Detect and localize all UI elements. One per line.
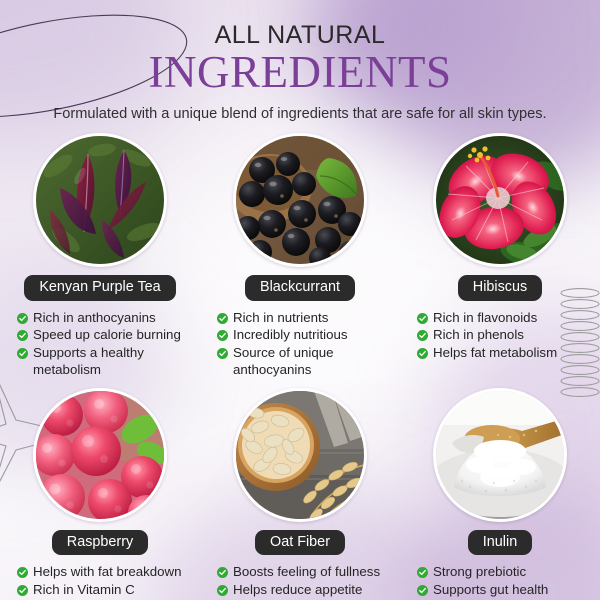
check-circle-icon [417,348,428,359]
check-circle-icon [217,313,228,324]
ingredient-name-pill: Raspberry [52,530,148,556]
ingredient-card-blackcurrant: Blackcurrant Rich in nutrients [200,133,400,380]
check-circle-icon [17,313,28,324]
page-title: INGREDIENTS [0,50,600,95]
benefit-text: Boosts feeling of fullness [233,564,389,581]
benefit-text: Speed up calorie burning [33,327,189,344]
benefit-list: Helps with fat breakdown Rich in Vitamin… [11,564,189,600]
benefit-item: Boosts feeling of fullness [217,564,389,581]
ingredient-row-2: Raspberry Helps with fat breakdown [0,388,600,600]
header: ALL NATURAL INGREDIENTS Formulated with … [0,22,600,122]
benefit-item: Strong prebiotic [417,564,589,581]
benefit-item: Rich in flavonoids [417,310,589,327]
benefit-text: Rich in nutrients [233,310,389,327]
ingredient-card-hibiscus: Hibiscus Rich in flavonoids [400,133,600,380]
hibiscus-flower-photo [433,133,567,267]
check-circle-icon [217,567,228,578]
ingredients-infographic: ALL NATURAL INGREDIENTS Formulated with … [0,0,600,600]
benefit-text: Incredibly nutritious [233,327,389,344]
benefit-item: Supports a healthy metabolism [17,345,189,379]
ingredient-card-oat-fiber: Oat Fiber Boosts feeling of fullness [200,388,400,600]
benefit-text: Rich in anthocyanins [33,310,189,327]
benefit-item: Speed up calorie burning [17,327,189,344]
purple-tea-leaves-photo [33,133,167,267]
benefit-text: Supports gut health [433,582,589,599]
benefit-text: Source of unique anthocyanins [233,345,389,379]
benefit-list: Rich in flavonoids Rich in phenols [411,310,589,363]
benefit-list: Rich in nutrients Incredibly nutritious [211,310,389,380]
ingredient-name-pill: Inulin [468,530,532,556]
blackcurrant-berries-photo [233,133,367,267]
benefit-text: Helps with fat breakdown [33,564,189,581]
benefit-text: Strong prebiotic [433,564,589,581]
benefit-list: Strong prebiotic Supports gut health [411,564,589,600]
check-circle-icon [217,348,228,359]
ingredient-name-pill: Oat Fiber [255,530,345,556]
benefit-item: Rich in phenols [417,327,589,344]
title-eyebrow: ALL NATURAL [0,22,600,49]
benefit-text: Rich in flavonoids [433,310,589,327]
subtitle: Formulated with a unique blend of ingred… [0,106,600,122]
check-circle-icon [17,567,28,578]
benefit-item: Helps fat metabolism [417,345,589,362]
benefit-text: Rich in phenols [433,327,589,344]
check-circle-icon [417,585,428,596]
benefit-item: Rich in nutrients [217,310,389,327]
raspberry-fruit-photo [33,388,167,522]
benefit-item: Helps reduce appetite [217,582,389,599]
benefit-list: Boosts feeling of fullness Helps reduce … [211,564,389,600]
benefit-item: Rich in anthocyanins [17,310,189,327]
check-circle-icon [17,585,28,596]
ingredient-name-pill: Hibiscus [458,275,542,301]
check-circle-icon [417,330,428,341]
benefit-list: Rich in anthocyanins Speed up calorie bu… [11,310,189,380]
benefit-item: Source of unique anthocyanins [217,345,389,379]
benefit-item: Helps with fat breakdown [17,564,189,581]
check-circle-icon [17,348,28,359]
benefit-text: Rich in Vitamin C [33,582,189,599]
benefit-text: Supports a healthy metabolism [33,345,189,379]
ingredient-card-kenyan-purple-tea: Kenyan Purple Tea Rich in anthocyanins [0,133,200,380]
benefit-text: Helps reduce appetite [233,582,389,599]
check-circle-icon [217,330,228,341]
ingredient-card-raspberry: Raspberry Helps with fat breakdown [0,388,200,600]
check-circle-icon [417,567,428,578]
check-circle-icon [17,330,28,341]
ingredient-grid: Kenyan Purple Tea Rich in anthocyanins [0,133,600,600]
check-circle-icon [217,585,228,596]
ingredient-card-inulin: Inulin Strong prebiotic [400,388,600,600]
ingredient-name-pill: Blackcurrant [245,275,355,301]
ingredient-row-1: Kenyan Purple Tea Rich in anthocyanins [0,133,600,380]
inulin-powder-photo [433,388,567,522]
check-circle-icon [417,313,428,324]
benefit-item: Rich in Vitamin C [17,582,189,599]
oat-flakes-photo [233,388,367,522]
benefit-item: Incredibly nutritious [217,327,389,344]
benefit-text: Helps fat metabolism [433,345,589,362]
benefit-item: Supports gut health [417,582,589,599]
ingredient-name-pill: Kenyan Purple Tea [24,275,175,301]
